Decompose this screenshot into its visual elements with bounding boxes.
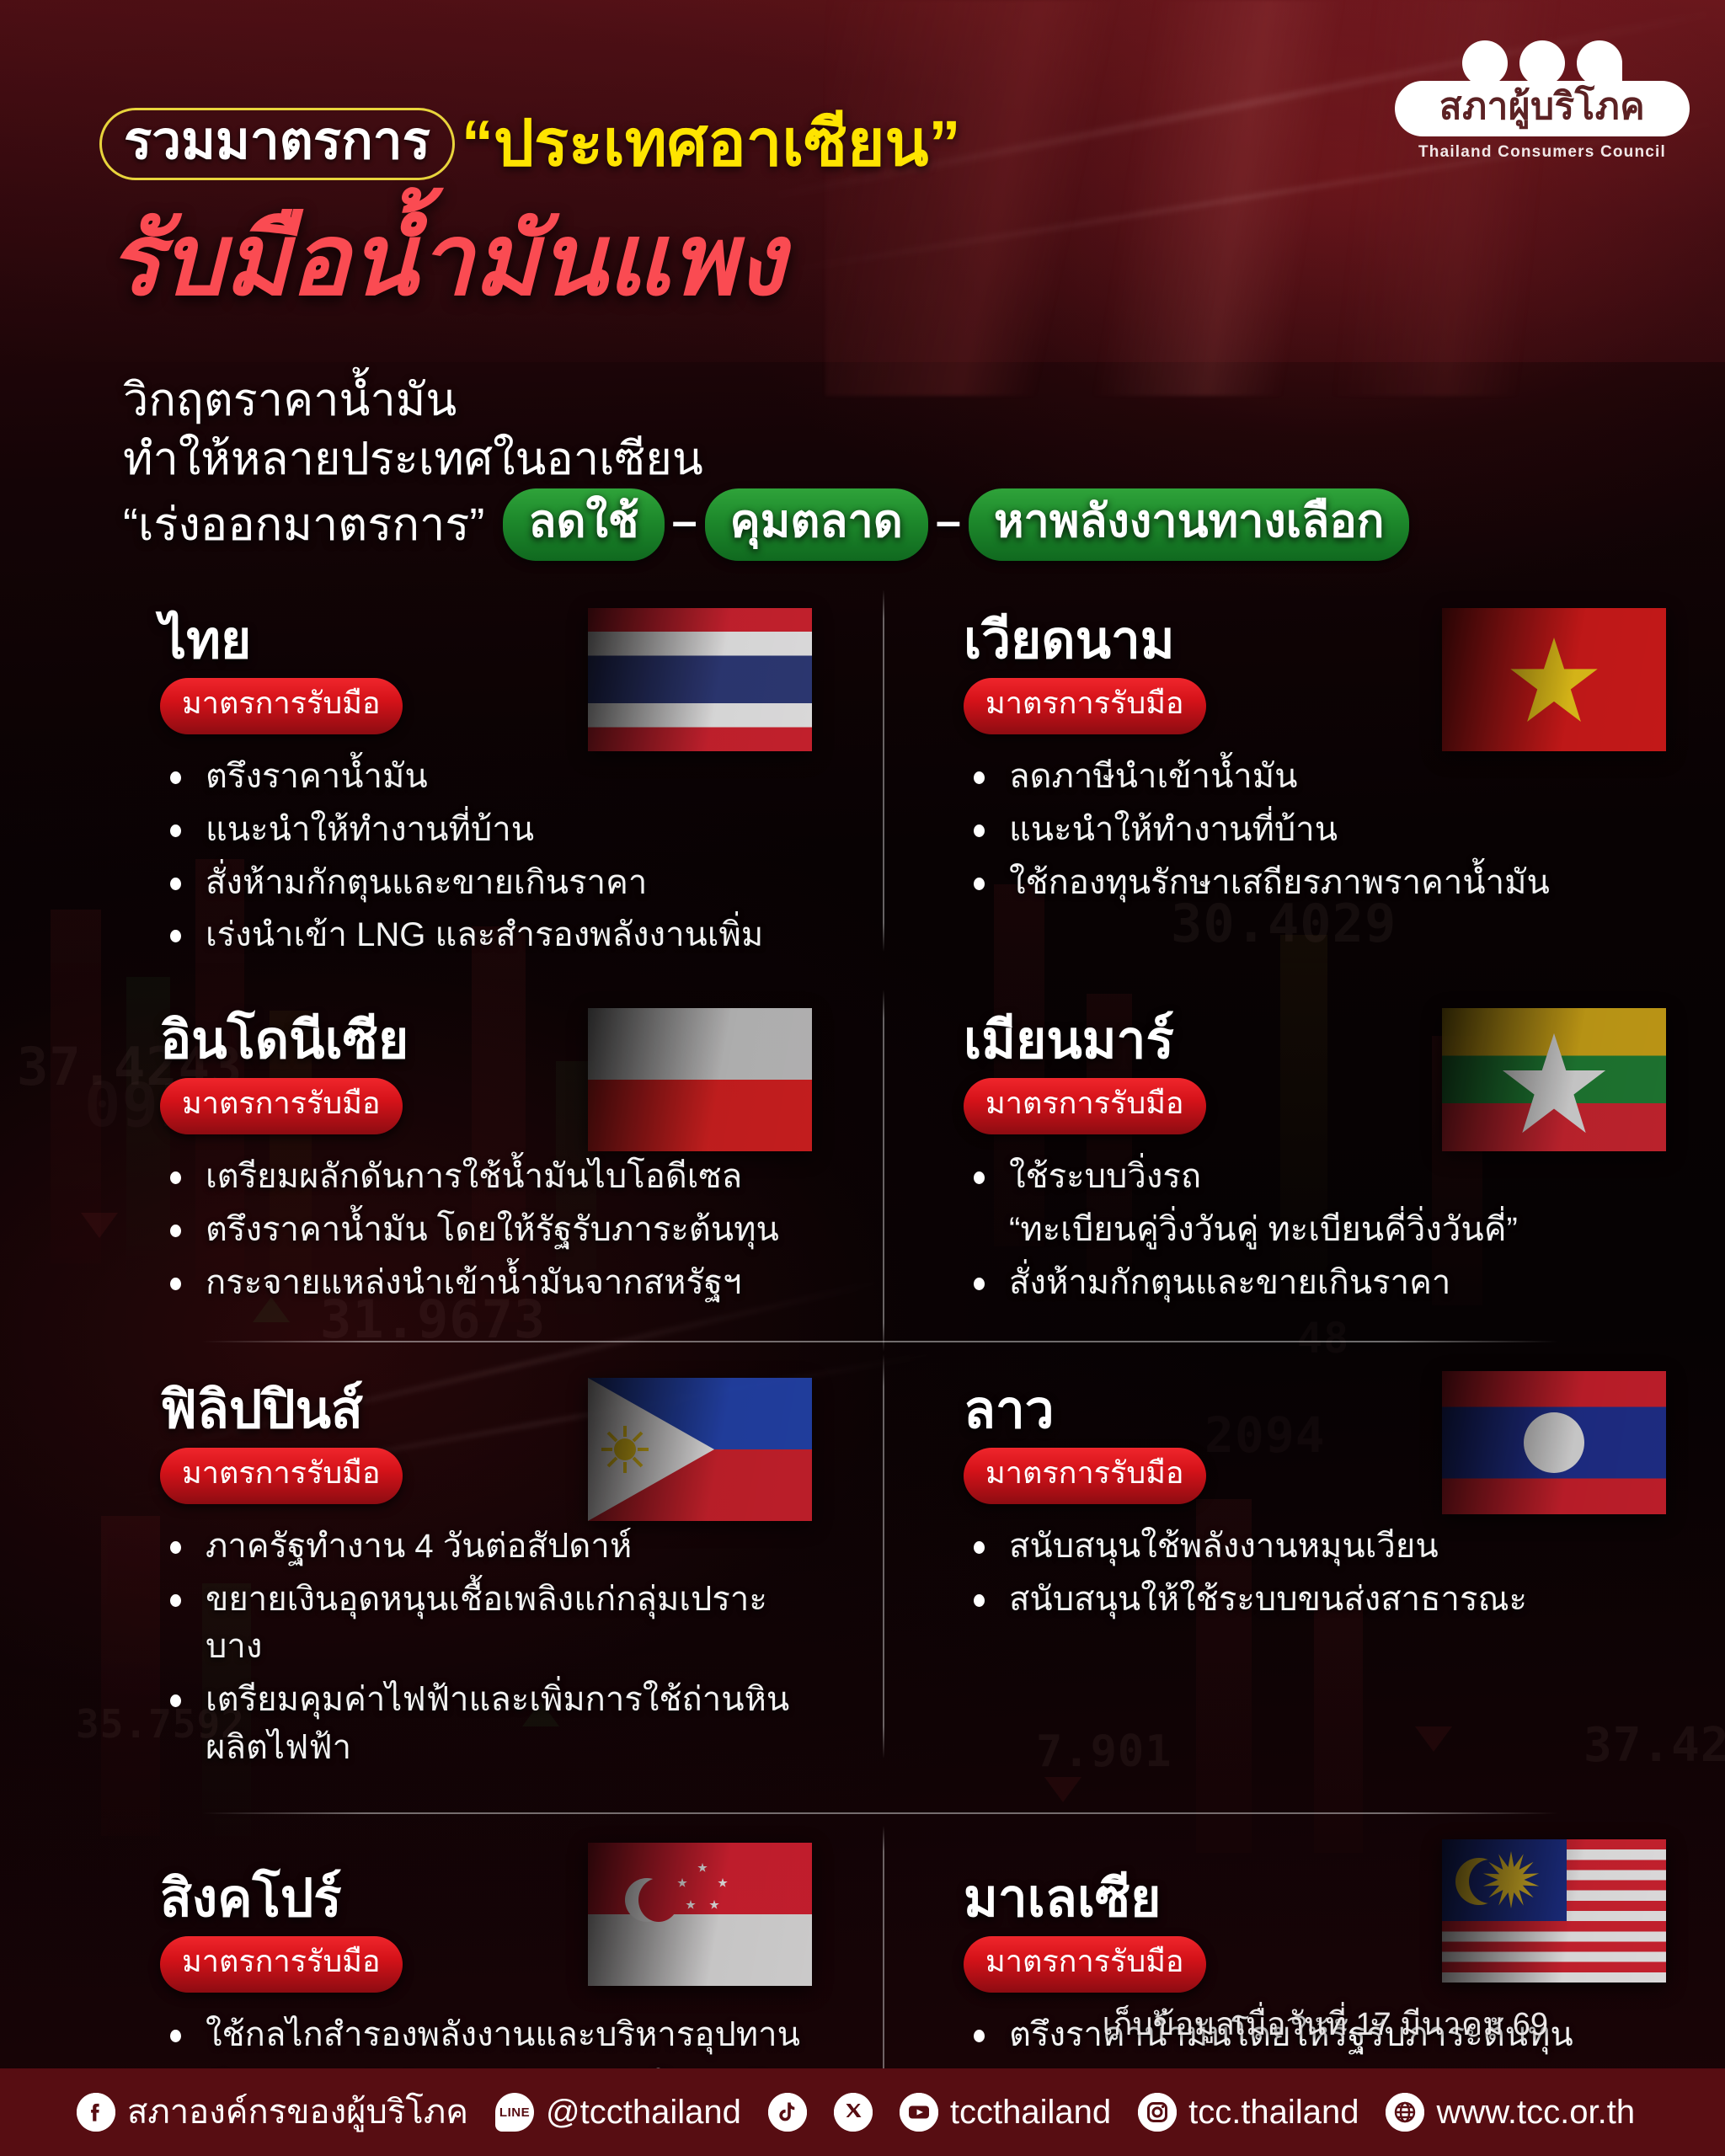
- laos-flag: [1442, 1371, 1666, 1514]
- logo-head-chat-bubble: [1577, 40, 1622, 86]
- list-item: สั่งห้ามกักตุนและขายเกินราคา: [160, 859, 812, 907]
- grid-row: ไทย มาตรการรับมือ ตรึงราคาน้ำมัน แนะนำให…: [0, 590, 1725, 979]
- data-collection-date: เก็บข้อมูลเมื่อวันที่ 17 มีนาคม 69: [1102, 1998, 1548, 2049]
- measures-list: ภาครัฐทำงาน 4 วันต่อสัปดาห์ ขยายเงินอุดห…: [160, 1523, 812, 1772]
- footer-label: @tccthailand: [546, 2095, 741, 2129]
- footer-label: สภาองค์กรของผู้บริโภค: [127, 2095, 468, 2129]
- status-badge: มาตรการรับมือ: [964, 1936, 1206, 1993]
- measures-list: สนับสนุนใช้พลังงานหมุนเวียน สนับสนุนให้ใ…: [964, 1523, 1666, 1624]
- tiktok-icon: [768, 2093, 807, 2132]
- measures-list: เตรียมผลักดันการใช้น้ำมันไบโอดีเซล ตรึงร…: [160, 1153, 812, 1306]
- logo-people-icon: [1395, 40, 1690, 86]
- country-grid: ไทย มาตรการรับมือ ตรึงราคาน้ำมัน แนะนำให…: [0, 590, 1725, 2132]
- logo-head-circle: [1462, 40, 1508, 86]
- footer-item-facebook[interactable]: สภาองค์กรของผู้บริโภค: [77, 2093, 468, 2132]
- measure-chips: ลดใช้ – คุมตลาด – หาพลังงานทางเลือก: [503, 488, 1409, 561]
- subtitle-block: วิกฤตราคาน้ำมัน ทำให้หลายประเทศในอาเซียน…: [123, 371, 1409, 561]
- subtitle-line-1: วิกฤตราคาน้ำมัน: [123, 371, 1409, 430]
- vietnam-flag: [1442, 608, 1666, 751]
- indonesia-flag: [588, 1008, 812, 1151]
- facebook-icon: [77, 2093, 115, 2132]
- instagram-icon: [1138, 2093, 1177, 2132]
- list-item: ตรึงราคาน้ำมัน โดยให้รัฐรับภาระต้นทุน: [160, 1206, 812, 1254]
- grid-row: ฟิลิปปินส์ มาตรการรับมือ ภาครัฐทำงาน 4 ว…: [0, 1347, 1725, 1792]
- x-twitter-icon: [834, 2093, 873, 2132]
- logo-head-circle: [1519, 40, 1565, 86]
- country-card-philippines: ฟิลิปปินส์ มาตรการรับมือ ภาครัฐทำงาน 4 ว…: [0, 1347, 862, 1792]
- singapore-flag: [588, 1843, 812, 1986]
- subtitle-line-2: ทำให้หลายประเทศในอาเซียน: [123, 430, 1409, 488]
- youtube-icon: [900, 2093, 938, 2132]
- subtitle-line-3: “เร่งออกมาตรการ” ลดใช้ – คุมตลาด – หาพลั…: [123, 488, 1409, 561]
- line-icon: LINE: [495, 2093, 534, 2132]
- chip-control-market: คุมตลาด: [705, 488, 928, 561]
- footer-item-youtube[interactable]: tccthailand: [900, 2093, 1111, 2132]
- list-item: ตรึงราคาน้ำมัน: [160, 753, 812, 801]
- list-item: กระจายแหล่งนำเข้าน้ำมันจากสหรัฐฯ: [160, 1259, 812, 1307]
- grid-row: อินโดนีเซีย มาตรการรับมือ เตรียมผลักดันก…: [0, 990, 1725, 1326]
- list-item: เร่งนำเข้า LNG และสำรองพลังงานเพิ่ม: [160, 911, 812, 959]
- status-badge: มาตรการรับมือ: [160, 1448, 403, 1504]
- subtitle-quote: “เร่งออกมาตรการ”: [123, 495, 484, 554]
- infographic-poster: 30.4029 37.4243 31.9673 7.901 35.7592 37…: [0, 0, 1725, 2156]
- status-badge: มาตรการรับมือ: [964, 1448, 1206, 1504]
- list-item: ลดภาษีนำเข้าน้ำมัน: [964, 753, 1666, 801]
- status-badge: มาตรการรับมือ: [160, 678, 403, 734]
- title-tag: รวมมาตรการ: [99, 108, 455, 180]
- myanmar-flag: [1442, 1008, 1666, 1151]
- title-line-1: รวมมาตรการ “ประเทศอาเซียน”: [99, 108, 960, 180]
- grid-divider-horizontal: [202, 1812, 1558, 1814]
- list-item: สนับสนุนให้ใช้ระบบขนส่งสาธารณะ: [964, 1576, 1666, 1624]
- footer-label: tcc.thailand: [1188, 2095, 1359, 2129]
- list-item: เตรียมผลักดันการใช้น้ำมันไบโอดีเซล: [160, 1153, 812, 1201]
- chip-reduce-use: ลดใช้: [503, 488, 664, 561]
- footer-item-website[interactable]: www.tcc.or.th: [1386, 2093, 1635, 2132]
- footer-label: tccthailand: [950, 2095, 1111, 2129]
- status-badge: มาตรการรับมือ: [160, 1078, 403, 1134]
- list-item: สั่งห้ามกักตุนและขายเกินราคา: [964, 1259, 1666, 1307]
- philippines-flag: [588, 1378, 812, 1521]
- country-card-thailand: ไทย มาตรการรับมือ ตรึงราคาน้ำมัน แนะนำให…: [0, 590, 862, 979]
- footer-item-tiktok[interactable]: [768, 2093, 807, 2132]
- list-item: ภาครัฐทำงาน 4 วันต่อสัปดาห์: [160, 1523, 812, 1571]
- country-card-indonesia: อินโดนีเซีย มาตรการรับมือ เตรียมผลักดันก…: [0, 990, 862, 1326]
- list-item: ใช้กลไกสำรองพลังงานและบริหารอุปทาน: [160, 2011, 812, 2059]
- country-card-vietnam: เวียดนาม มาตรการรับมือ ลดภาษีนำเข้าน้ำมั…: [862, 590, 1725, 979]
- chip-separator: –: [928, 492, 969, 558]
- status-badge: มาตรการรับมือ: [964, 1078, 1206, 1134]
- list-item: ขยายเงินอุดหนุนเชื้อเพลิงแก่กลุ่มเปราะบา…: [160, 1576, 812, 1672]
- measures-list: ลดภาษีนำเข้าน้ำมัน แนะนำให้ทำงานที่บ้าน …: [964, 753, 1666, 906]
- measures-list: ใช้ระบบวิ่งรถ “ทะเบียนคู่วิ่งวันคู่ ทะเบ…: [964, 1153, 1666, 1306]
- country-card-laos: ลาว มาตรการรับมือ สนับสนุนใช้พลังงานหมุน…: [862, 1347, 1725, 1792]
- list-item: เตรียมคุมค่าไฟฟ้าและเพิ่มการใช้ถ่านหินผล…: [160, 1676, 812, 1772]
- footer-item-line[interactable]: LINE @tccthailand: [495, 2093, 741, 2132]
- footer-item-x-twitter[interactable]: [834, 2093, 873, 2132]
- list-item: สนับสนุนใช้พลังงานหมุนเวียน: [964, 1523, 1666, 1571]
- malaysia-flag: [1442, 1839, 1666, 1983]
- chip-alternative-energy: หาพลังงานทางเลือก: [969, 488, 1410, 561]
- logo-name-en: Thailand Consumers Council: [1395, 143, 1690, 162]
- title-main: รับมือน้ำมันแพง: [108, 211, 785, 310]
- list-item: ใช้กองทุนรักษาเสถียรภาพราคาน้ำมัน: [964, 859, 1666, 907]
- chip-separator: –: [665, 492, 705, 558]
- list-item-continuation: “ทะเบียนคู่วิ่งวันคู่ ทะเบียนคี่วิ่งวันค…: [964, 1206, 1666, 1254]
- country-card-myanmar: เมียนมาร์ มาตรการรับมือ ใช้ระบบวิ่งรถ “ท…: [862, 990, 1725, 1326]
- list-item: แนะนำให้ทำงานที่บ้าน: [160, 806, 812, 854]
- globe-icon: [1386, 2093, 1424, 2132]
- footer-item-instagram[interactable]: tcc.thailand: [1138, 2093, 1359, 2132]
- measures-list: ตรึงราคาน้ำมัน แนะนำให้ทำงานที่บ้าน สั่ง…: [160, 753, 812, 959]
- footer-label: www.tcc.or.th: [1436, 2095, 1635, 2129]
- social-footer: สภาองค์กรของผู้บริโภค LINE @tccthailand …: [0, 2068, 1725, 2156]
- status-badge: มาตรการรับมือ: [964, 678, 1206, 734]
- list-item: แนะนำให้ทำงานที่บ้าน: [964, 806, 1666, 854]
- thailand-flag: [588, 608, 812, 751]
- tcc-logo: สภาผู้บริโภค Thailand Consumers Council: [1395, 40, 1690, 162]
- list-item: ใช้ระบบวิ่งรถ: [964, 1153, 1666, 1201]
- logo-name-th: สภาผู้บริโภค: [1395, 81, 1690, 136]
- title-quoted: “ประเทศอาเซียน”: [462, 112, 961, 176]
- grid-divider-horizontal: [202, 1341, 1558, 1342]
- status-badge: มาตรการรับมือ: [160, 1936, 403, 1993]
